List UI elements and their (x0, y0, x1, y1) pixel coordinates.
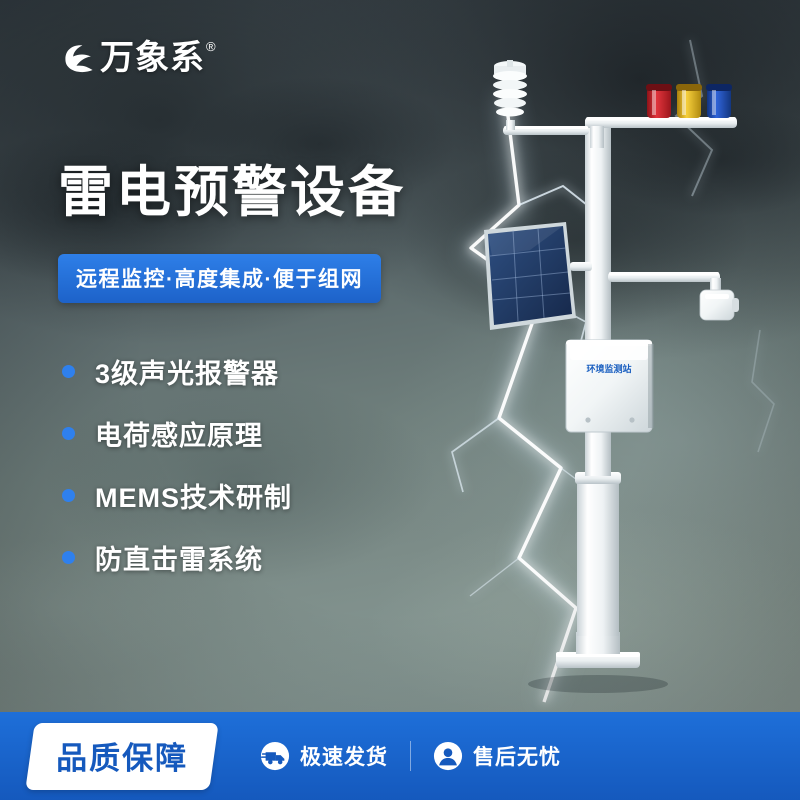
list-item: 3级声光报警器 (62, 340, 292, 402)
brand-name: 万象系 (100, 38, 205, 78)
bullet-dot-icon (62, 427, 75, 440)
trust-items: 极速发货 售后无忧 (238, 741, 583, 771)
trust-item-label: 售后无忧 (473, 741, 561, 771)
list-item: MEMS技术研制 (62, 464, 292, 526)
trust-item-label: 极速发货 (300, 741, 388, 771)
feature-label: 防直击雷系统 (95, 538, 263, 577)
registered-mark: ® (206, 40, 216, 54)
delivery-truck-icon (260, 741, 290, 771)
page-title: 雷电预警设备 (58, 160, 406, 224)
swirl-logo-icon (62, 42, 96, 76)
feature-label: 3级声光报警器 (95, 352, 279, 391)
feature-label: MEMS技术研制 (95, 476, 292, 515)
customer-service-icon (433, 741, 463, 771)
bullet-dot-icon (62, 551, 75, 564)
marketing-overlay: 万象系 ® 雷电预警设备 远程监控·高度集成·便于组网 3级声光报警器 电荷感应… (0, 0, 800, 800)
bullet-dot-icon (62, 489, 75, 502)
bottom-trust-bar: 品质保障 极速发货 售后无忧 (0, 712, 800, 800)
trust-item-aftersales: 售后无忧 (411, 741, 583, 771)
brand-logo: 万象系 ® (62, 38, 216, 78)
feature-list: 3级声光报警器 电荷感应原理 MEMS技术研制 防直击雷系统 (62, 340, 292, 588)
subtitle-badge: 远程监控·高度集成·便于组网 (58, 254, 381, 303)
list-item: 电荷感应原理 (62, 402, 292, 464)
quality-badge: 品质保障 (25, 723, 218, 790)
list-item: 防直击雷系统 (62, 526, 292, 588)
trust-item-shipping: 极速发货 (238, 741, 410, 771)
quality-badge-label: 品质保障 (56, 733, 188, 778)
bullet-dot-icon (62, 365, 75, 378)
feature-label: 电荷感应原理 (95, 414, 263, 453)
